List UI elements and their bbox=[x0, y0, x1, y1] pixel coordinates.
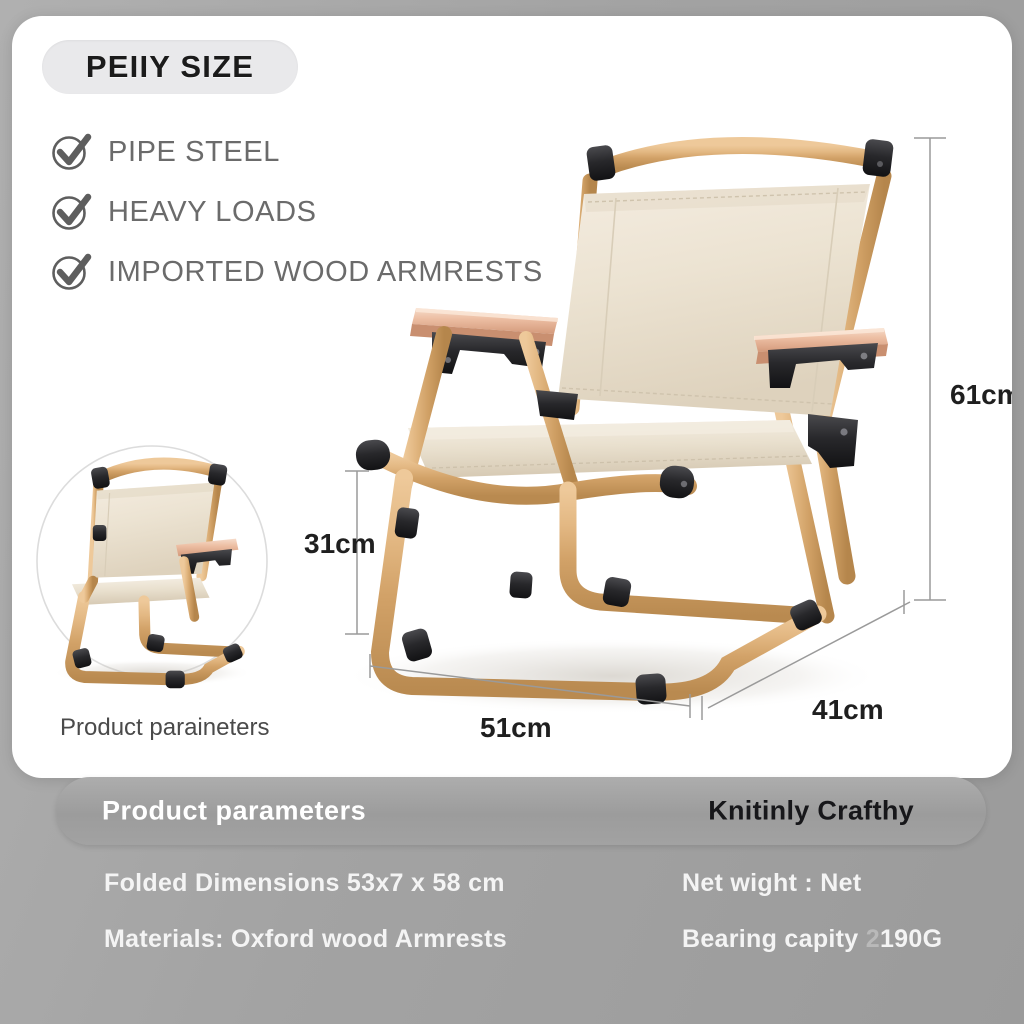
spec-rows: Folded Dimensions 53x7 x 58 cm Materials… bbox=[0, 868, 1024, 998]
feature-label: PIPE STEEL bbox=[108, 136, 280, 169]
size-badge-label: PEIIY SIZE bbox=[86, 49, 254, 85]
infographic-root: PEIIY SIZE PIPE STEEL bbox=[0, 0, 1024, 1024]
bearing-capacity-dim-digit: 2 bbox=[866, 925, 880, 953]
spec-line-bearing-capacity: Bearing capity 2190G bbox=[682, 924, 942, 980]
bearing-capacity-label: Bearing capity bbox=[682, 925, 866, 953]
feature-item: HEAVY LOADS bbox=[50, 182, 543, 242]
spec-line-net-weight: Net wight : Net bbox=[682, 868, 942, 924]
feature-list: PIPE STEEL HEAVY LOADS bbox=[50, 122, 543, 302]
spec-header-right-title: Knitinly Crafthy bbox=[708, 796, 914, 827]
inset-caption: Product paraineters bbox=[60, 714, 269, 742]
product-card: PEIIY SIZE PIPE STEEL bbox=[12, 16, 1012, 778]
feature-label: HEAVY LOADS bbox=[108, 196, 317, 229]
spec-column-right: Net wight : Net Bearing capity 2190G bbox=[682, 868, 942, 980]
spec-header-bar: Product parameters Knitinly Crafthy bbox=[56, 777, 986, 845]
check-circle-icon bbox=[50, 251, 92, 293]
feature-item: IMPORTED WOOD ARMRESTS bbox=[50, 242, 543, 302]
size-badge: PEIIY SIZE bbox=[42, 40, 298, 94]
dimension-label-depth: 41cm bbox=[812, 694, 884, 726]
check-circle-icon bbox=[50, 191, 92, 233]
bearing-capacity-value: 190G bbox=[880, 925, 942, 953]
dimension-label-height: 61cm bbox=[950, 379, 1012, 411]
feature-item: PIPE STEEL bbox=[50, 122, 543, 182]
spec-header-left-title: Product parameters bbox=[102, 796, 366, 827]
dimension-label-width: 51cm bbox=[480, 712, 552, 744]
spec-line-materials: Materials: Oxford wood Armrests bbox=[104, 924, 507, 980]
spec-line-folded-dimensions: Folded Dimensions 53x7 x 58 cm bbox=[104, 868, 507, 924]
spec-column-left: Folded Dimensions 53x7 x 58 cm Materials… bbox=[104, 868, 507, 980]
feature-label: IMPORTED WOOD ARMRESTS bbox=[108, 256, 543, 289]
check-circle-icon bbox=[50, 131, 92, 173]
dimension-label-seat-height: 31cm bbox=[304, 528, 376, 560]
